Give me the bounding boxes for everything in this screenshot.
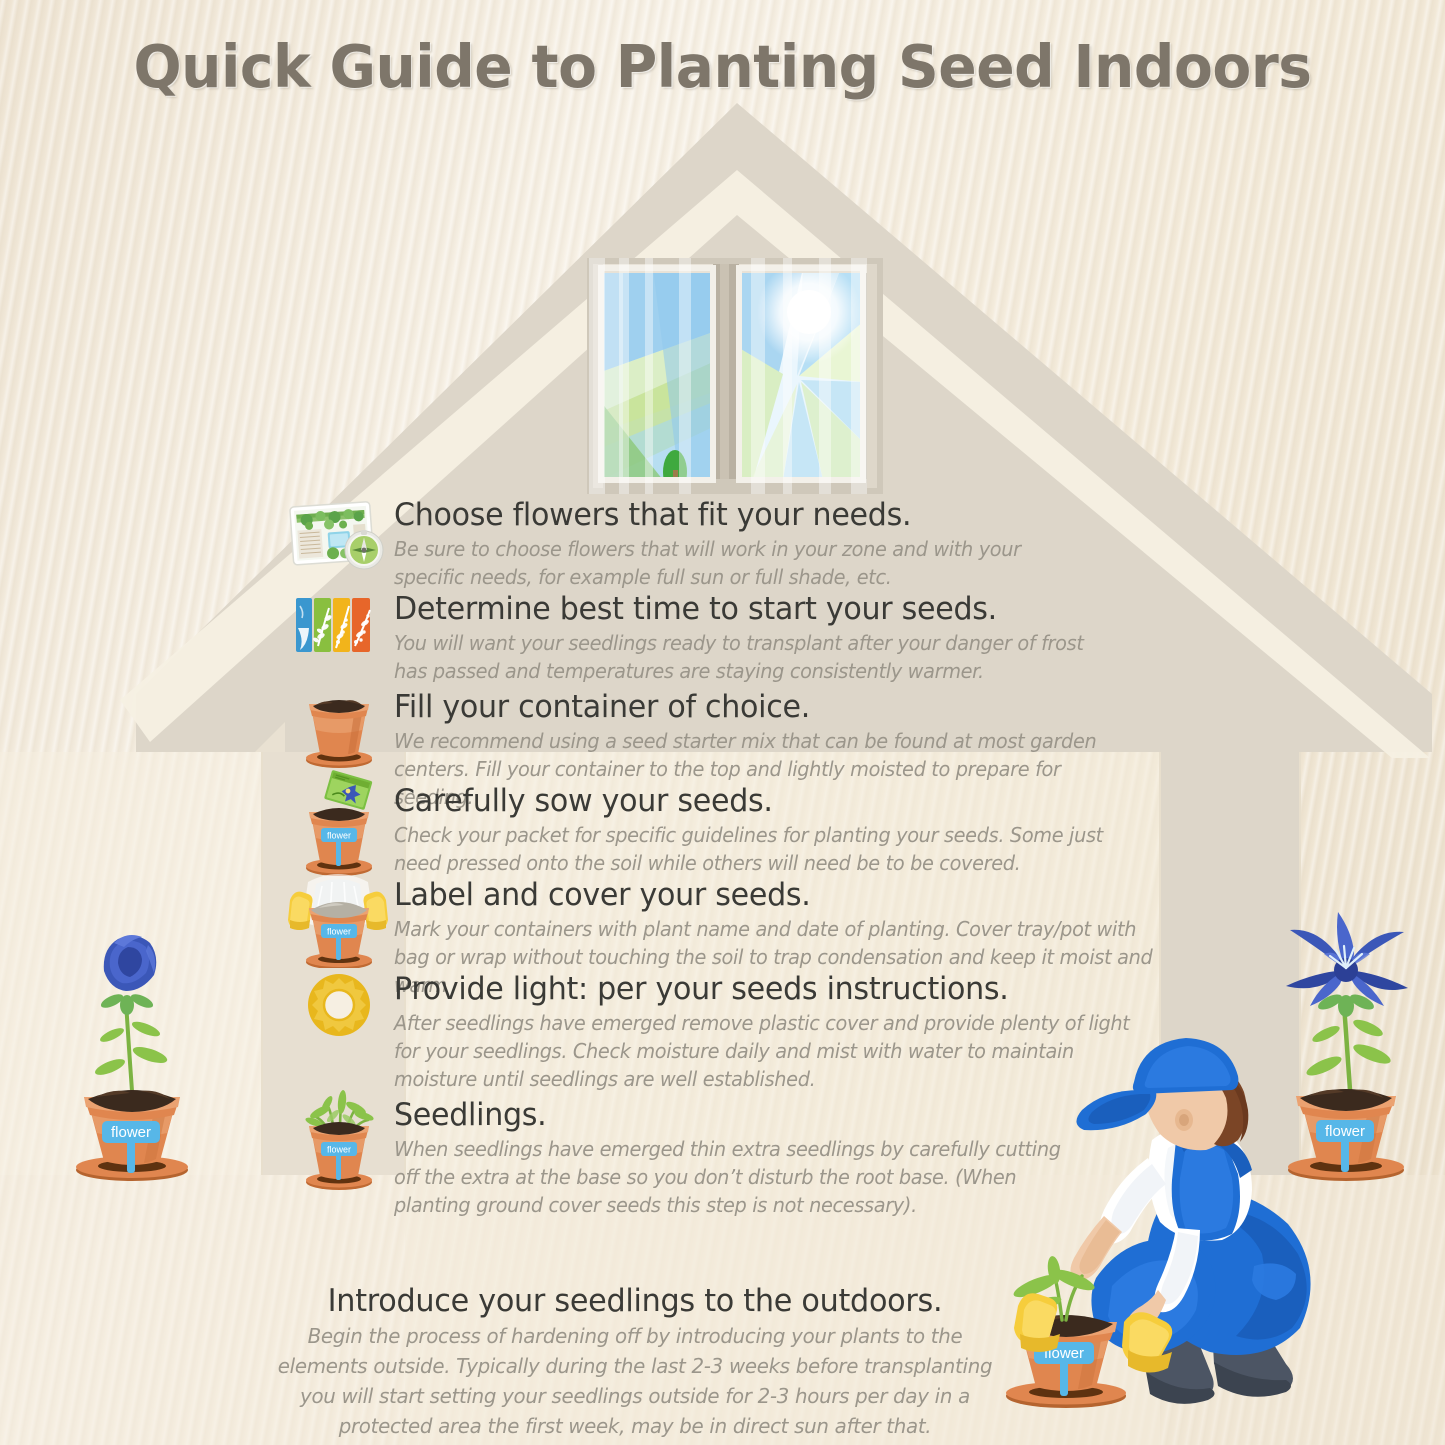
step-heading: Label and cover your seeds. [394,878,1181,914]
four-seasons-icon [294,596,398,654]
outro-heading: Introduce your seedlings to the outdoors… [265,1283,1004,1319]
outro-description: Begin the process of hardening off by in… [262,1322,1009,1442]
step-heading: Provide light: per your seeds instructio… [394,972,1181,1008]
step-text: Carefully sow your seeds. Check your pac… [394,784,1218,877]
gardener-planting-illustration: flower [1000,1028,1345,1440]
seed-packet-sowing-icon: flower [300,768,404,878]
step-heading: Choose flowers that fit your needs. [394,498,1181,534]
step-heading: Fill your container of choice. [394,690,1181,726]
step-item: Fill your container of choice. We recomm… [288,690,1218,786]
step-text: Choose flowers that fit your needs. Be s… [394,498,1218,591]
step-item: Choose flowers that fit your needs. Be s… [288,498,1218,594]
pot-label: flower [327,927,351,937]
window-with-sunlight-illustration [583,252,887,508]
step-heading: Determine best time to start your seeds. [394,592,1181,628]
page-title: Quick Guide to Planting Seed Indoors [29,32,1416,101]
step-description: Be sure to choose flowers that will work… [394,535,1063,592]
step-item: flower Label and cover your seeds. Mark … [288,878,1218,974]
step-item: Determine best time to start your seeds.… [288,592,1218,692]
step-heading: Carefully sow your seeds. [394,784,1181,820]
filled-flower-pot-icon [300,688,404,770]
blue-rosebud-in-pot-illustration: flower [62,905,202,1185]
glove-left-icon [1014,1293,1060,1352]
step-description: You will want your seedlings ready to tr… [394,629,1091,686]
infographic-poster: Quick Guide to Planting Seed Indoors [0,0,1445,1445]
garden-plan-compass-icon [288,498,392,578]
pot-label: flower [327,831,351,841]
left-glove-icon [288,892,313,930]
gloves-covering-pot-icon: flower [286,864,390,968]
step-description: When seedlings have emerged thin extra s… [394,1135,1063,1220]
seedlings-pot-icon: flower [300,1072,404,1192]
pot-label: flower [327,1145,351,1155]
step-description: Check your packet for specific guideline… [394,821,1105,878]
step-text: Determine best time to start your seeds.… [394,592,1218,685]
outro-block: Introduce your seedlings to the outdoors… [250,1283,1020,1442]
step-item: flower Carefully sow your seeds. Check y… [288,784,1218,880]
pot-label: flower [111,1124,151,1141]
